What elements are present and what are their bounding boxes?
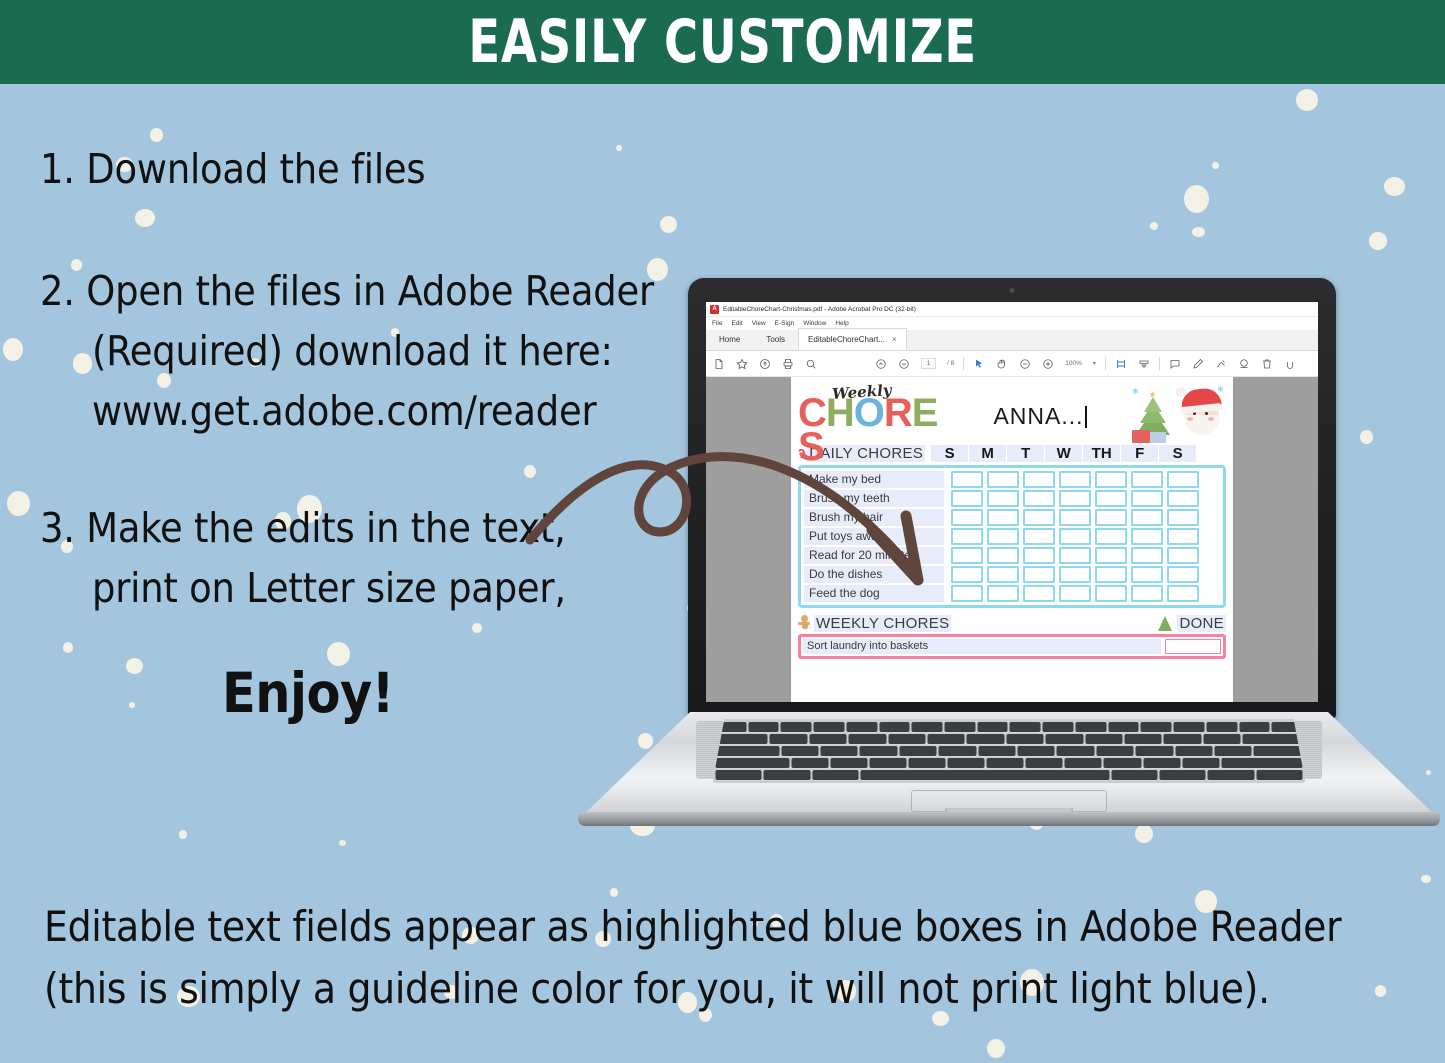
menu-item-edit[interactable]: Edit bbox=[731, 320, 742, 327]
tree-icon bbox=[1158, 616, 1172, 631]
bottom-note-line-1: Editable text fields appear as highlight… bbox=[44, 896, 1414, 958]
day-header: S bbox=[1159, 445, 1196, 462]
keyboard-key bbox=[716, 734, 768, 744]
keyboard-key bbox=[1018, 746, 1055, 756]
keyboard-key bbox=[831, 758, 868, 768]
sign-icon[interactable] bbox=[1215, 358, 1227, 370]
acrobat-toolbar: 1 / 8 100% ▾ bbox=[706, 351, 1318, 377]
keyboard-key bbox=[879, 722, 910, 732]
laptop-lid: A EditableChoreChart-Christmas.pdf - Ado… bbox=[688, 278, 1336, 718]
step-3-line-1: 3. Make the edits in the text, bbox=[40, 504, 566, 552]
zoom-in-icon[interactable] bbox=[1042, 358, 1054, 370]
chore-checkbox[interactable] bbox=[1095, 490, 1127, 507]
chore-row: Do the dishes bbox=[804, 566, 1220, 583]
star-icon[interactable] bbox=[736, 358, 748, 370]
page-total-label: / 8 bbox=[947, 360, 954, 367]
chore-name-field[interactable]: Make my bed bbox=[804, 471, 944, 488]
chore-checkbox[interactable] bbox=[1095, 509, 1127, 526]
chart-header: Weekly CHORES ANNA... ❄ ❄ bbox=[798, 383, 1226, 445]
select-cursor-icon[interactable] bbox=[973, 358, 985, 370]
chore-checkbox[interactable] bbox=[987, 509, 1019, 526]
keyboard-key bbox=[792, 758, 829, 768]
gingerbread-man-icon bbox=[798, 615, 810, 631]
keyboard-row bbox=[716, 734, 1303, 744]
fit-page-icon[interactable] bbox=[1115, 358, 1127, 370]
chore-checkbox[interactable] bbox=[1167, 509, 1199, 526]
instruction-step-1: 1. Download the files bbox=[40, 140, 700, 200]
toolbar-divider bbox=[963, 357, 964, 370]
chore-checkbox-group bbox=[951, 471, 1203, 488]
toolbar-divider-3 bbox=[1159, 357, 1160, 370]
keyboard-key bbox=[1208, 770, 1254, 780]
snow-dot bbox=[1184, 185, 1209, 213]
step-2-line-1: 2. Open the files in Adobe Reader bbox=[40, 267, 654, 315]
snow-dot bbox=[339, 840, 346, 846]
keyboard-key bbox=[1143, 758, 1180, 768]
acrobat-title-bar: A EditableChoreChart-Christmas.pdf - Ado… bbox=[706, 302, 1318, 317]
chore-name-field[interactable]: Brush my hair bbox=[804, 509, 944, 526]
name-field-value: ANNA... bbox=[993, 403, 1083, 429]
weekly-chore-row: Sort laundry into baskets bbox=[798, 634, 1226, 659]
day-header: M bbox=[969, 445, 1006, 462]
keyboard-key bbox=[1006, 734, 1043, 744]
keyboard-key bbox=[1182, 758, 1219, 768]
keyboard-key bbox=[909, 758, 946, 768]
undo-icon[interactable] bbox=[1284, 358, 1296, 370]
day-header-row: SMTWTHFS bbox=[931, 445, 1197, 462]
chore-checkbox-group bbox=[951, 509, 1203, 526]
chore-checkbox-group bbox=[951, 490, 1203, 507]
keyboard-key bbox=[1164, 734, 1201, 744]
toolbar-divider-2 bbox=[1105, 357, 1106, 370]
keyboard-key bbox=[820, 746, 857, 756]
highlight-pen-icon[interactable] bbox=[1192, 358, 1204, 370]
chore-checkbox[interactable] bbox=[1059, 528, 1091, 545]
upload-cloud-icon[interactable] bbox=[759, 358, 771, 370]
keyboard-key bbox=[1175, 746, 1212, 756]
snow-dot bbox=[1296, 89, 1318, 111]
chore-checkbox-group bbox=[951, 528, 1203, 545]
page-title: EASILY CUSTOMIZE bbox=[468, 7, 977, 77]
keyboard-key bbox=[781, 746, 818, 756]
keyboard-key bbox=[1010, 722, 1041, 732]
keyboard-key bbox=[977, 722, 1008, 732]
keyboard-key bbox=[1174, 722, 1205, 732]
toolbar-tools-group: 100% ▾ bbox=[973, 358, 1096, 370]
chore-checkbox[interactable] bbox=[1095, 585, 1127, 602]
chore-checkbox[interactable] bbox=[1023, 547, 1055, 564]
file-icon[interactable] bbox=[713, 358, 725, 370]
chore-checkbox[interactable] bbox=[951, 490, 983, 507]
keyboard-key bbox=[1111, 770, 1157, 780]
gift-icon bbox=[1132, 430, 1150, 443]
chores-logo: Weekly CHORES bbox=[798, 383, 950, 465]
keyboard-key bbox=[1065, 758, 1102, 768]
keyboard-key bbox=[939, 746, 976, 756]
trash-icon[interactable] bbox=[1261, 358, 1273, 370]
keyboard-key bbox=[888, 734, 925, 744]
weekly-chores-label: WEEKLY CHORES bbox=[814, 615, 951, 632]
snow-dot bbox=[1150, 222, 1158, 229]
keyboard-key bbox=[1104, 758, 1141, 768]
keyboard-key bbox=[1206, 722, 1237, 732]
chore-checkbox[interactable] bbox=[1023, 509, 1055, 526]
chore-checkbox[interactable] bbox=[1095, 528, 1127, 545]
keyboard-key bbox=[1125, 734, 1162, 744]
day-header: W bbox=[1045, 445, 1082, 462]
chore-checkbox[interactable] bbox=[1059, 585, 1091, 602]
keyboard-key bbox=[1043, 722, 1074, 732]
chore-row: Read for 20 minutes bbox=[804, 547, 1220, 564]
chore-checkbox[interactable] bbox=[1167, 547, 1199, 564]
keyboard-key bbox=[967, 734, 1004, 744]
keyboard-key bbox=[748, 722, 779, 732]
tab-home[interactable]: Home bbox=[706, 329, 753, 350]
santa-tree-illustration: ❄ ❄ bbox=[1130, 383, 1226, 445]
keyboard-key bbox=[716, 758, 790, 768]
keyboard-key bbox=[809, 734, 846, 744]
hand-icon[interactable] bbox=[996, 358, 1008, 370]
keyboard-key bbox=[1221, 758, 1302, 768]
logo-letter: S bbox=[798, 430, 824, 464]
keyboard-key bbox=[899, 746, 936, 756]
chore-checkbox[interactable] bbox=[1131, 509, 1163, 526]
zoom-level-label[interactable]: 100% bbox=[1065, 360, 1082, 367]
keyboard-key bbox=[870, 758, 907, 768]
keyboard-key bbox=[1096, 746, 1133, 756]
chore-checkbox[interactable] bbox=[1167, 585, 1199, 602]
chore-checkbox[interactable] bbox=[1023, 528, 1055, 545]
keyboard-key bbox=[716, 746, 780, 756]
santa-eye bbox=[1205, 412, 1208, 415]
chore-checkbox[interactable] bbox=[1059, 566, 1091, 583]
weekly-chore-field[interactable]: Sort laundry into baskets bbox=[803, 639, 1161, 654]
chore-checkbox[interactable] bbox=[987, 585, 1019, 602]
chore-row: Put toys away bbox=[804, 528, 1220, 545]
chore-checkbox[interactable] bbox=[1023, 471, 1055, 488]
keyboard-key bbox=[1026, 758, 1063, 768]
chore-checkbox[interactable] bbox=[1059, 547, 1091, 564]
santa-hat-pom bbox=[1176, 387, 1186, 397]
slide-canvas: EASILY CUSTOMIZE 1. Download the files 2… bbox=[0, 0, 1445, 1063]
chore-name-field[interactable]: Do the dishes bbox=[804, 566, 944, 583]
chore-row: Make my bed bbox=[804, 471, 1220, 488]
menu-item-window[interactable]: Window bbox=[803, 320, 826, 327]
chore-checkbox-group bbox=[951, 585, 1203, 602]
done-label: DONE bbox=[1177, 615, 1226, 632]
chore-name-field[interactable]: Brush my teeth bbox=[804, 490, 944, 507]
keyboard-row bbox=[716, 746, 1303, 756]
acrobat-window: A EditableChoreChart-Christmas.pdf - Ado… bbox=[706, 302, 1318, 702]
snow-dot bbox=[987, 1039, 1005, 1058]
chevron-down-icon[interactable]: ▾ bbox=[1093, 360, 1096, 367]
chore-name-field[interactable]: Feed the dog bbox=[804, 585, 944, 602]
keyboard-key bbox=[846, 722, 877, 732]
snowflake-icon: ❄ bbox=[1217, 385, 1224, 394]
chore-name-field[interactable]: Put toys away bbox=[804, 528, 944, 545]
keyboard-key bbox=[987, 758, 1024, 768]
toolbar-page-nav: 1 / 8 bbox=[875, 358, 954, 370]
snow-dot bbox=[179, 830, 188, 838]
chore-checkbox[interactable] bbox=[951, 547, 983, 564]
chore-checkbox-group bbox=[951, 547, 1203, 564]
toolbar-view-group bbox=[1115, 358, 1150, 370]
keyboard-key bbox=[764, 770, 810, 780]
logo-chores-word: CHORES bbox=[798, 396, 950, 465]
laptop-mockup: A EditableChoreChart-Christmas.pdf - Ado… bbox=[578, 278, 1440, 830]
chore-checkbox[interactable] bbox=[987, 490, 1019, 507]
keyboard-row bbox=[716, 758, 1303, 768]
chore-checkbox[interactable] bbox=[987, 547, 1019, 564]
comment-icon[interactable] bbox=[1169, 358, 1181, 370]
keyboard-row bbox=[716, 770, 1303, 780]
daily-chores-grid: Make my bedBrush my teethBrush my hairPu… bbox=[798, 465, 1226, 608]
chore-checkbox[interactable] bbox=[987, 566, 1019, 583]
keyboard-key bbox=[1254, 746, 1303, 756]
bottom-note: Editable text fields appear as highlight… bbox=[44, 896, 1414, 1020]
page-number-input[interactable]: 1 bbox=[921, 358, 936, 369]
day-header: TH bbox=[1083, 445, 1120, 462]
chore-checkbox[interactable] bbox=[1023, 585, 1055, 602]
snow-dot bbox=[3, 338, 23, 361]
laptop-screen: A EditableChoreChart-Christmas.pdf - Ado… bbox=[706, 302, 1318, 702]
keyboard-key bbox=[860, 770, 1109, 780]
document-viewport[interactable]: Weekly CHORES ANNA... ❄ ❄ bbox=[706, 377, 1318, 702]
chore-checkbox[interactable] bbox=[1167, 566, 1199, 583]
keyboard-key bbox=[1239, 722, 1270, 732]
snowflake-icon: ❄ bbox=[1132, 387, 1139, 396]
tab-tools[interactable]: Tools bbox=[753, 329, 798, 350]
logo-letter: R bbox=[884, 396, 912, 430]
chore-checkbox[interactable] bbox=[1059, 509, 1091, 526]
day-header: T bbox=[1007, 445, 1044, 462]
day-header: F bbox=[1121, 445, 1158, 462]
chore-checkbox[interactable] bbox=[951, 528, 983, 545]
chore-row: Brush my hair bbox=[804, 509, 1220, 526]
logo-letter: E bbox=[912, 396, 938, 430]
chore-checkbox[interactable] bbox=[1095, 471, 1127, 488]
keyboard-key bbox=[716, 770, 762, 780]
bottom-note-line-2: (this is simply a guideline color for yo… bbox=[44, 958, 1414, 1020]
stamp-icon[interactable] bbox=[1238, 358, 1250, 370]
keyboard-key bbox=[1215, 746, 1252, 756]
header-banner: EASILY CUSTOMIZE bbox=[0, 0, 1445, 84]
menu-item-view[interactable]: View bbox=[752, 320, 766, 327]
weekly-done-checkbox[interactable] bbox=[1165, 639, 1221, 654]
keyboard bbox=[713, 719, 1306, 783]
chore-checkbox[interactable] bbox=[987, 471, 1019, 488]
page-down-icon[interactable] bbox=[898, 358, 910, 370]
keyboard-key bbox=[1136, 746, 1173, 756]
keyboard-key bbox=[1046, 734, 1083, 744]
chore-name-field[interactable]: Read for 20 minutes bbox=[804, 547, 944, 564]
name-text-field[interactable]: ANNA... bbox=[950, 383, 1130, 430]
tree-icon bbox=[1144, 397, 1162, 412]
acrobat-logo-icon: A bbox=[710, 305, 719, 314]
pdf-page: Weekly CHORES ANNA... ❄ ❄ bbox=[791, 377, 1233, 702]
text-cursor bbox=[1085, 406, 1087, 428]
keyboard-key bbox=[1057, 746, 1094, 756]
keyboard-key bbox=[1075, 722, 1106, 732]
snow-dot bbox=[1384, 177, 1405, 195]
laptop-base bbox=[578, 712, 1440, 830]
chore-checkbox[interactable] bbox=[1023, 490, 1055, 507]
snow-dot bbox=[7, 491, 29, 516]
window-title: EditableChoreChart-Christmas.pdf - Adobe… bbox=[723, 306, 916, 313]
santa-cheek bbox=[1187, 417, 1193, 421]
keyboard-key bbox=[927, 734, 964, 744]
santa-cheek bbox=[1208, 417, 1214, 421]
tab-document-label: EditableChoreChart... bbox=[808, 329, 885, 350]
keyboard-key bbox=[1256, 770, 1302, 780]
page-up-icon[interactable] bbox=[875, 358, 887, 370]
keyboard-key bbox=[1203, 734, 1240, 744]
webcam-icon bbox=[1010, 288, 1015, 293]
chore-checkbox[interactable] bbox=[1131, 566, 1163, 583]
keyboard-key bbox=[860, 746, 897, 756]
chore-checkbox[interactable] bbox=[987, 528, 1019, 545]
read-mode-icon[interactable] bbox=[1138, 358, 1150, 370]
chore-checkbox[interactable] bbox=[1059, 490, 1091, 507]
toolbar-annotation-group bbox=[1169, 358, 1296, 370]
keyboard-key bbox=[812, 770, 858, 780]
weekly-chores-rows: Sort laundry into baskets bbox=[798, 634, 1226, 659]
keyboard-key bbox=[912, 722, 943, 732]
chore-checkbox[interactable] bbox=[1095, 547, 1127, 564]
close-icon[interactable]: × bbox=[892, 329, 897, 350]
chore-checkbox[interactable] bbox=[951, 566, 983, 583]
menu-item-help[interactable]: Help bbox=[835, 320, 848, 327]
chore-checkbox-group bbox=[951, 566, 1203, 583]
chore-row: Brush my teeth bbox=[804, 490, 1220, 507]
laptop-deck bbox=[578, 712, 1440, 820]
snow-dot bbox=[1212, 162, 1219, 168]
snow-dot bbox=[1369, 232, 1387, 249]
toolbar-left-group bbox=[713, 358, 817, 370]
chore-checkbox[interactable] bbox=[951, 471, 983, 488]
chore-checkbox[interactable] bbox=[1095, 566, 1127, 583]
keyboard-key bbox=[781, 722, 812, 732]
keyboard-key bbox=[978, 746, 1015, 756]
menu-item-file[interactable]: File bbox=[712, 320, 722, 327]
tab-document[interactable]: EditableChoreChart... × bbox=[798, 328, 907, 350]
chore-checkbox[interactable] bbox=[1131, 585, 1163, 602]
gift-icon bbox=[1150, 432, 1166, 443]
chore-checkbox[interactable] bbox=[1167, 528, 1199, 545]
menu-item-esign[interactable]: E-Sign bbox=[775, 320, 795, 327]
chore-row: Feed the dog bbox=[804, 585, 1220, 602]
keyboard-row bbox=[716, 722, 1303, 732]
keyboard-key bbox=[945, 722, 976, 732]
keyboard-key bbox=[1141, 722, 1172, 732]
snow-dot bbox=[1192, 227, 1204, 237]
keyboard-key bbox=[849, 734, 886, 744]
keyboard-key bbox=[1243, 734, 1303, 744]
keyboard-key bbox=[1085, 734, 1122, 744]
chore-checkbox[interactable] bbox=[951, 585, 983, 602]
chore-checkbox[interactable] bbox=[1131, 490, 1163, 507]
keyboard-key bbox=[1160, 770, 1206, 780]
keyboard-key bbox=[814, 722, 845, 732]
base-lip bbox=[578, 812, 1440, 826]
chore-checkbox[interactable] bbox=[1131, 547, 1163, 564]
weekly-chores-header-row: WEEKLY CHORES DONE bbox=[798, 614, 1226, 632]
chore-checkbox[interactable] bbox=[1167, 490, 1199, 507]
chore-checkbox[interactable] bbox=[1059, 471, 1091, 488]
chore-checkbox[interactable] bbox=[1023, 566, 1055, 583]
chore-checkbox[interactable] bbox=[1131, 471, 1163, 488]
print-icon[interactable] bbox=[782, 358, 794, 370]
chore-checkbox[interactable] bbox=[1131, 528, 1163, 545]
chore-checkbox[interactable] bbox=[951, 509, 983, 526]
zoom-out-icon[interactable] bbox=[1019, 358, 1031, 370]
snow-dot bbox=[1421, 875, 1431, 884]
keyboard-key bbox=[1108, 722, 1139, 732]
acrobat-tab-bar: Home Tools EditableChoreChart... × bbox=[706, 330, 1318, 351]
chore-checkbox[interactable] bbox=[1167, 471, 1199, 488]
keyboard-key bbox=[770, 734, 807, 744]
search-icon[interactable] bbox=[805, 358, 817, 370]
keyboard-key bbox=[948, 758, 985, 768]
